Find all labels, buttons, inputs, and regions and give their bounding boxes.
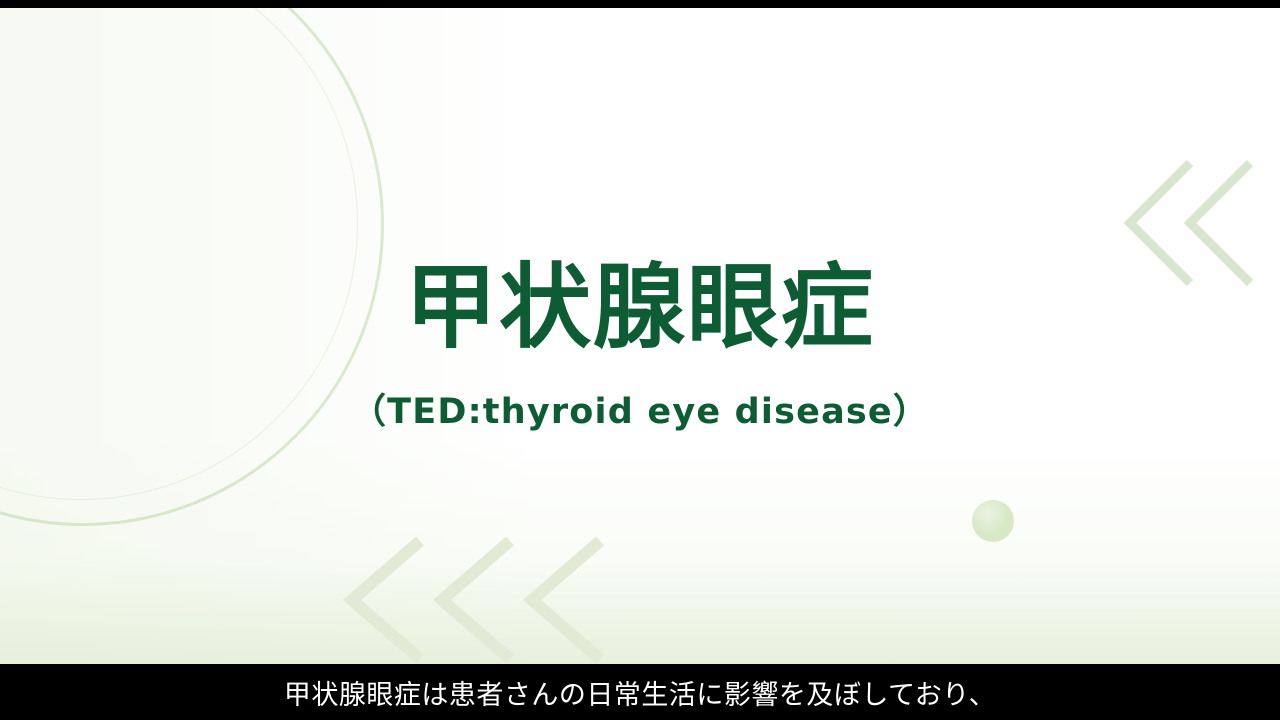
page-subtitle: （TED:thyroid eye disease）	[0, 383, 1280, 434]
page-title: 甲状腺眼症	[0, 258, 1280, 357]
letterbox-top-bar	[0, 0, 1280, 8]
chevron-left-icon-bottom-group	[330, 533, 660, 664]
title-block: 甲状腺眼症 （TED:thyroid eye disease）	[0, 258, 1280, 434]
slide-canvas: 甲状腺眼症 （TED:thyroid eye disease）	[0, 8, 1280, 664]
video-frame: 甲状腺眼症 （TED:thyroid eye disease） 甲状腺眼症は患者…	[0, 0, 1280, 720]
subtitle-caption-bar: 甲状腺眼症は患者さんの日常生活に影響を及ぼしており、	[0, 664, 1280, 720]
green-dot-decoration	[972, 500, 1014, 542]
caption-text: 甲状腺眼症は患者さんの日常生活に影響を及ぼしており、	[284, 673, 996, 712]
